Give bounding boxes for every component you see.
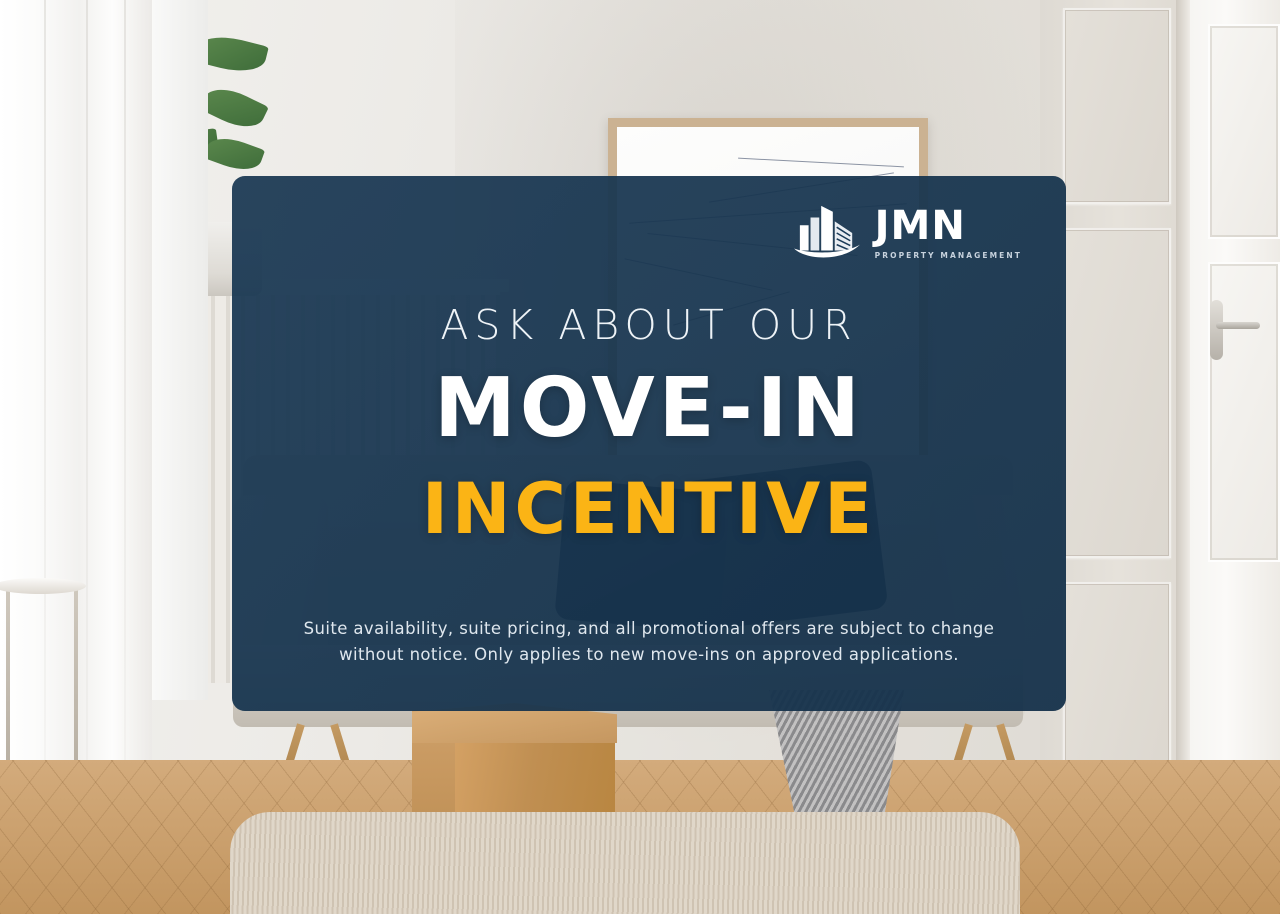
wall-panel — [1063, 8, 1171, 204]
curtain-secondary — [150, 0, 208, 700]
brand-name: JMN — [875, 206, 966, 246]
promo-disclaimer: Suite availability, suite pricing, and a… — [276, 616, 1022, 667]
advertisement-graphic: JMN PROPERTY MANAGEMENT ASK ABOUT OUR MO… — [0, 0, 1280, 914]
promo-eyebrow: ASK ABOUT OUR — [232, 301, 1066, 349]
door-panel — [1208, 24, 1280, 239]
door-escutcheon — [1210, 300, 1223, 360]
brand-tagline: PROPERTY MANAGEMENT — [875, 251, 1022, 260]
area-rug — [230, 812, 1020, 914]
promo-headline-accent: INCENTIVE — [232, 472, 1066, 546]
promo-overlay-card: JMN PROPERTY MANAGEMENT ASK ABOUT OUR MO… — [232, 176, 1066, 711]
brand-logo: JMN PROPERTY MANAGEMENT — [792, 202, 1022, 264]
wall-panel — [1063, 228, 1171, 558]
door-handle-icon — [1216, 322, 1260, 329]
promo-headline-primary: MOVE-IN — [232, 366, 1066, 453]
building-skyline-icon — [792, 202, 862, 264]
wall-edge — [1176, 0, 1190, 800]
